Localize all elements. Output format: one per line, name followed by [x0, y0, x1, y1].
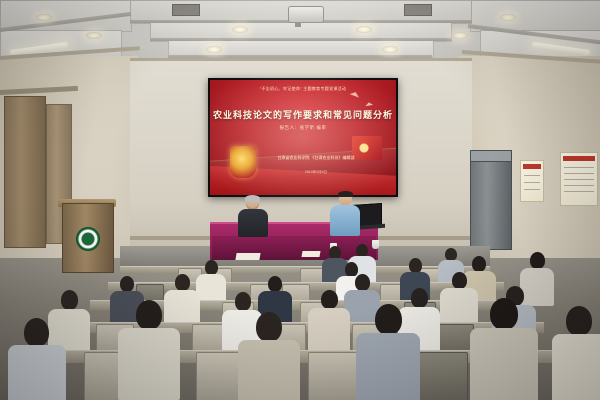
audience-member — [308, 290, 350, 356]
head — [409, 258, 422, 273]
seat[interactable] — [308, 352, 358, 400]
notice-line — [564, 185, 594, 186]
paper-sheet — [235, 253, 260, 260]
ceiling-light — [86, 32, 102, 39]
torso — [552, 334, 600, 400]
notice-board — [560, 152, 598, 206]
torso — [8, 345, 66, 400]
head — [321, 290, 338, 309]
head — [566, 306, 592, 336]
audience-member — [356, 304, 420, 400]
notice-board — [520, 160, 544, 202]
head — [355, 274, 370, 291]
slide-date-text: 2019年9月6日 — [244, 170, 388, 175]
torso — [356, 333, 420, 400]
hair — [338, 191, 353, 197]
head — [136, 300, 162, 330]
conference-room-photo: "不忘初心、牢记使命" 主题教育专题党课活动 农业科技论文的写作要求和常见问题分… — [0, 0, 600, 400]
head — [24, 318, 49, 347]
ceiling-vent — [404, 4, 432, 16]
head — [452, 272, 467, 289]
ceiling-vent — [172, 4, 200, 16]
notice-line — [564, 167, 594, 168]
notice-line — [524, 189, 540, 190]
notice-line — [564, 173, 594, 174]
notice-banner — [523, 164, 541, 169]
notice-line — [524, 182, 540, 183]
audience-member — [552, 306, 600, 400]
paper-sheet — [301, 251, 320, 257]
head — [61, 290, 78, 310]
projection-screen: "不忘初心、牢记使命" 主题教育专题党课活动 农业科技论文的写作要求和常见问题分… — [208, 78, 398, 197]
head — [175, 274, 190, 291]
audience-member — [8, 318, 66, 400]
ceiling-light — [36, 14, 52, 21]
ceiling-light — [382, 46, 398, 53]
head — [490, 298, 518, 330]
ceiling-beam — [150, 38, 452, 41]
notice-banner — [563, 156, 595, 161]
head — [530, 252, 545, 269]
slide-header-text: "不忘初心、牢记使命" 主题教育专题党课活动 — [210, 86, 396, 92]
wall-cabinet[interactable] — [470, 150, 512, 250]
presentation-slide: "不忘初心、牢记使命" 主题教育专题党课活动 农业科技论文的写作要求和常见问题分… — [210, 80, 396, 195]
ceiling-light — [232, 26, 248, 33]
torso — [330, 205, 360, 236]
head — [268, 276, 282, 292]
head — [375, 304, 402, 335]
seat[interactable] — [418, 352, 468, 400]
ceiling-light — [356, 26, 372, 33]
hair — [245, 195, 260, 202]
wall-trim — [130, 58, 472, 61]
notice-line — [564, 191, 594, 192]
torso — [238, 209, 268, 237]
head — [472, 256, 486, 272]
slide-title: 农业科技论文的写作要求和常见问题分析 — [210, 108, 396, 121]
audience-member — [470, 298, 538, 400]
notice-line — [524, 175, 540, 176]
torso — [118, 328, 180, 400]
ceiling-light — [452, 32, 468, 39]
head — [120, 276, 134, 292]
slide-subtitle: 报告人：张学昕 编审 — [210, 125, 396, 131]
speaker-right — [330, 192, 360, 236]
ceiling-projector — [288, 6, 324, 23]
speaker-left — [238, 196, 268, 236]
torso — [470, 328, 538, 400]
head — [235, 292, 251, 311]
torso — [308, 308, 350, 356]
cabinet-top — [470, 150, 512, 162]
side-door[interactable] — [4, 96, 46, 248]
notice-line — [564, 179, 594, 180]
ceiling-light — [206, 46, 222, 53]
institute-logo-icon — [76, 227, 100, 251]
head — [205, 260, 218, 275]
audience-member — [238, 312, 300, 400]
ceiling-light — [500, 14, 516, 21]
head — [256, 312, 282, 342]
audience-member — [118, 300, 180, 400]
dove-icon — [365, 102, 373, 107]
slide-footer-text: 甘肃省农业科学院 《甘肃农业科技》编辑部 — [244, 154, 388, 161]
torso — [238, 340, 300, 400]
